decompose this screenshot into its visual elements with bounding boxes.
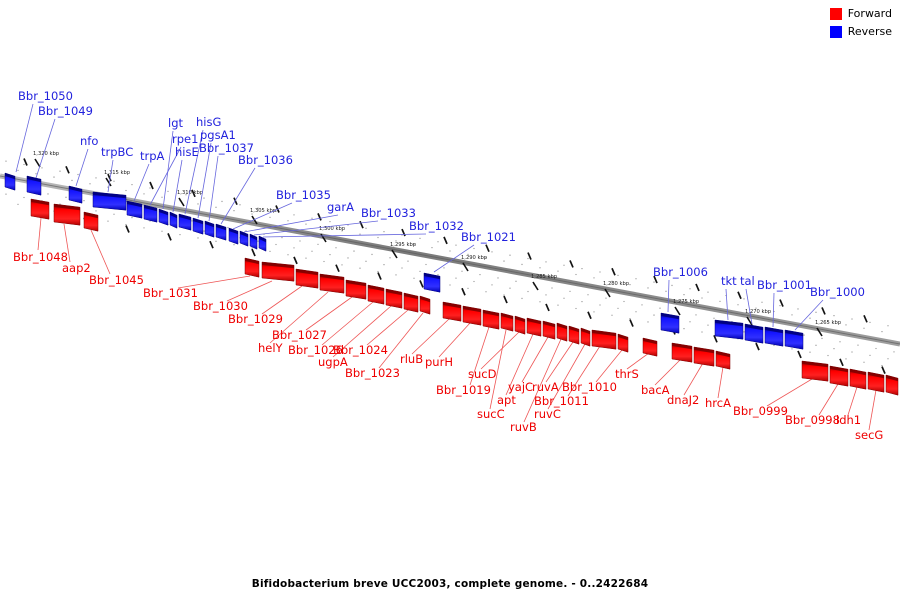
minor-tick-dot xyxy=(395,274,396,275)
legend-item-reverse: Reverse xyxy=(830,24,892,39)
minor-tick-dot xyxy=(299,240,300,241)
minor-tick-dot xyxy=(365,261,366,262)
minor-tick-dot xyxy=(17,170,18,171)
minor-tick-dot xyxy=(887,325,888,326)
gene-Bbr_1027[interactable] xyxy=(346,280,366,299)
gene-nfo[interactable] xyxy=(69,186,82,203)
leader-Bbr_1048 xyxy=(38,218,41,250)
gene-trpBC[interactable] xyxy=(93,192,126,210)
legend-label-reverse: Reverse xyxy=(848,26,892,38)
minor-tick-dot xyxy=(221,201,222,202)
genome-map-viewer: 1,320 kbp1,315 kbp1,310 kbp1,305 kbp1,30… xyxy=(0,0,900,600)
gene-tkt[interactable] xyxy=(715,320,743,339)
minor-tick-dot xyxy=(5,193,6,194)
minor-tick-dot xyxy=(821,338,822,339)
major-tick-mark xyxy=(420,280,423,287)
gene-apt[interactable] xyxy=(527,318,541,336)
gene-ugpA[interactable] xyxy=(386,289,402,308)
gene-label-Bbr_1032: Bbr_1032 xyxy=(409,219,464,233)
minor-tick-dot xyxy=(557,305,558,306)
minor-tick-dot xyxy=(527,258,528,259)
legend-item-forward: Forward xyxy=(830,6,892,21)
minor-tick-dot xyxy=(539,301,540,302)
gene-label-helY: helY xyxy=(258,341,284,355)
minor-tick-dot xyxy=(611,315,612,316)
minor-tick-dot xyxy=(761,302,762,303)
gene-label-sucC: sucC xyxy=(477,407,505,421)
gene-aap2[interactable] xyxy=(54,204,80,225)
minor-tick-dot xyxy=(827,355,828,356)
gene-Bbr_1035[interactable] xyxy=(229,228,238,244)
minor-tick-dot xyxy=(179,234,180,235)
minor-tick-dot xyxy=(161,231,162,232)
gene-Bbr_0999[interactable] xyxy=(802,361,828,381)
minor-tick-dot xyxy=(239,204,240,205)
gene-ruvB[interactable] xyxy=(557,323,567,341)
gene-hisG[interactable] xyxy=(179,214,191,230)
minor-tick-dot xyxy=(293,214,294,215)
legend-swatch-forward xyxy=(830,8,842,20)
gene-labels: Bbr_1050Bbr_1049nfotrpBCtrpArpe1lgthisEh… xyxy=(13,89,883,442)
major-tick-mark xyxy=(126,226,129,233)
minor-tick-dot xyxy=(347,257,348,258)
minor-tick-dot xyxy=(851,351,852,352)
gene-label-ugpA: ugpA xyxy=(318,355,348,369)
gene-label-Bbr_1035: Bbr_1035 xyxy=(276,188,331,202)
minor-tick-dot xyxy=(719,301,720,302)
minor-tick-dot xyxy=(833,315,834,316)
gene-label-ldh1: ldh1 xyxy=(836,413,861,427)
gene-ruvC[interactable] xyxy=(581,328,590,346)
major-tick-mark xyxy=(252,249,255,256)
genome-map-canvas[interactable]: 1,320 kbp1,315 kbp1,310 kbp1,305 kbp1,30… xyxy=(0,0,900,600)
minor-tick-dot xyxy=(71,180,72,181)
leader-Bbr_1030 xyxy=(227,281,272,301)
gene-rluB[interactable] xyxy=(443,302,461,321)
minor-tick-dot xyxy=(845,358,846,359)
minor-tick-dot xyxy=(557,271,558,272)
gene-label-Bbr_1021: Bbr_1021 xyxy=(461,230,516,244)
minor-tick-dot xyxy=(131,184,132,185)
minor-tick-dot xyxy=(329,221,330,222)
gene-label-Bbr_1010: Bbr_1010 xyxy=(562,380,617,394)
minor-tick-dot xyxy=(695,314,696,315)
gene-Bbr_1021[interactable] xyxy=(424,273,440,292)
minor-tick-dot xyxy=(545,261,546,262)
minor-tick-dot xyxy=(689,321,690,322)
minor-tick-dot xyxy=(473,248,474,249)
leader-Bbr_1029 xyxy=(262,286,302,314)
minor-tick-dot xyxy=(335,247,336,248)
leader-sucD xyxy=(481,332,519,369)
minor-tick-dot xyxy=(587,294,588,295)
leader-trpA xyxy=(134,164,149,201)
leader-Bbr_1006 xyxy=(668,280,669,312)
minor-tick-dot xyxy=(449,250,450,251)
gene-label-garA: garA xyxy=(327,200,354,214)
minor-tick-dot xyxy=(809,318,810,319)
minor-tick-dot xyxy=(281,237,282,238)
gene-helY[interactable] xyxy=(320,274,344,293)
major-tick-mark xyxy=(336,265,339,272)
minor-tick-dot xyxy=(527,291,528,292)
leader-Bbr_1045 xyxy=(91,230,110,274)
minor-tick-dot xyxy=(641,304,642,305)
minor-tick-dot xyxy=(509,255,510,256)
leader-Bbr_0998 xyxy=(819,384,838,415)
minor-tick-dot xyxy=(269,251,270,252)
gene-label-Bbr_1011: Bbr_1011 xyxy=(534,394,589,408)
major-tick-mark xyxy=(486,245,489,252)
minor-tick-dot xyxy=(329,254,330,255)
minor-tick-dot xyxy=(305,257,306,258)
minor-tick-dot xyxy=(83,200,84,201)
minor-tick-dot xyxy=(797,308,798,309)
leader-ruvA xyxy=(546,342,573,382)
tick-label: 1,315 kbp xyxy=(104,170,131,176)
gene-label-Bbr_1033: Bbr_1033 xyxy=(361,206,416,220)
gene-label-Bbr_1000: Bbr_1000 xyxy=(810,285,865,299)
gene-Bbr_1019[interactable] xyxy=(483,310,499,329)
minor-tick-dot xyxy=(113,214,114,215)
minor-tick-dot xyxy=(377,237,378,238)
minor-tick-dot xyxy=(515,281,516,282)
minor-tick-dot xyxy=(125,190,126,191)
minor-tick-dot xyxy=(287,254,288,255)
minor-tick-dot xyxy=(791,348,792,349)
minor-tick-dot xyxy=(617,275,618,276)
gene-Bbr_1010[interactable] xyxy=(618,334,628,352)
minor-tick-dot xyxy=(629,284,630,285)
minor-tick-dot xyxy=(593,311,594,312)
gene-Bbr_1036[interactable] xyxy=(216,224,226,240)
major-tick-mark xyxy=(294,257,297,264)
minor-tick-dot xyxy=(437,274,438,275)
gene-trpA[interactable] xyxy=(127,201,142,218)
major-tick-mark xyxy=(840,359,843,366)
gene-label-tkt: tkt xyxy=(721,274,737,288)
major-tick-mark xyxy=(318,213,321,220)
gene-label-pgsA1: pgsA1 xyxy=(200,128,236,142)
minor-tick-dot xyxy=(629,318,630,319)
gene-Bbr_1029[interactable] xyxy=(296,269,318,288)
major-tick-mark xyxy=(210,241,213,248)
tick-label: 1,285 kbp xyxy=(531,274,558,280)
minor-tick-dot xyxy=(311,251,312,252)
minor-tick-dot xyxy=(881,331,882,332)
minor-tick-dot xyxy=(635,278,636,279)
minor-tick-dot xyxy=(653,281,654,282)
gene-ldh1[interactable] xyxy=(850,369,866,389)
minor-tick-dot xyxy=(575,274,576,275)
minor-tick-dot xyxy=(839,341,840,342)
gene-Bbr_1000[interactable] xyxy=(785,330,803,349)
legend-swatch-reverse xyxy=(830,26,842,38)
minor-tick-dot xyxy=(233,210,234,211)
minor-tick-dot xyxy=(149,187,150,188)
minor-tick-dot xyxy=(743,298,744,299)
minor-tick-dot xyxy=(383,264,384,265)
major-tick-mark xyxy=(444,237,447,244)
minor-tick-dot xyxy=(563,298,564,299)
tick-label: 1,270 kbp xyxy=(745,309,772,315)
minor-tick-dot xyxy=(659,308,660,309)
minor-tick-dot xyxy=(707,325,708,326)
minor-tick-dot xyxy=(257,241,258,242)
tick-mark xyxy=(533,282,538,290)
minor-tick-dot xyxy=(581,268,582,269)
gene-Bbr_1026[interactable] xyxy=(368,285,384,304)
gene-pgsA1[interactable] xyxy=(193,218,203,234)
tick-label: 1,310 kbp xyxy=(177,190,204,196)
gene-bacA[interactable] xyxy=(672,343,692,362)
minor-tick-dot xyxy=(809,352,810,353)
gene-rpe1[interactable] xyxy=(144,205,157,222)
tick-label: 1,305 kbp xyxy=(250,208,277,214)
gene-label-thrS: thrS xyxy=(615,367,639,381)
minor-tick-dot xyxy=(287,220,288,221)
minor-tick-dot xyxy=(467,288,468,289)
gene-Bbr_1037[interactable] xyxy=(205,221,214,237)
minor-tick-dot xyxy=(317,244,318,245)
minor-tick-dot xyxy=(305,223,306,224)
gene-hisE[interactable] xyxy=(170,212,177,228)
gene-lgt[interactable] xyxy=(159,209,168,225)
leader-Bbr_1037 xyxy=(209,156,218,221)
minor-tick-dot xyxy=(407,261,408,262)
gene-label-yajC: yajC xyxy=(508,380,533,394)
leader-tkt xyxy=(726,289,728,320)
minor-tick-dot xyxy=(503,260,504,261)
minor-tick-dot xyxy=(713,318,714,319)
major-tick-mark xyxy=(822,307,825,314)
minor-tick-dot xyxy=(203,197,204,198)
minor-tick-dot xyxy=(863,328,864,329)
major-tick-mark xyxy=(360,221,363,228)
minor-tick-dot xyxy=(707,292,708,293)
minor-tick-dot xyxy=(563,265,564,266)
gene-label-Bbr_1036: Bbr_1036 xyxy=(238,153,293,167)
gene-label-Bbr_1048: Bbr_1048 xyxy=(13,250,68,264)
minor-tick-dot xyxy=(593,277,594,278)
minor-tick-dot xyxy=(419,238,420,239)
minor-tick-dot xyxy=(197,203,198,204)
gene-Bbr_1048[interactable] xyxy=(31,199,49,219)
minor-tick-dot xyxy=(875,348,876,349)
leader-yajC xyxy=(522,337,548,382)
leader-hrcA xyxy=(718,367,723,398)
gene-label-ruvB: ruvB xyxy=(510,420,537,434)
minor-tick-dot xyxy=(251,247,252,248)
minor-tick-dot xyxy=(425,264,426,265)
minor-tick-dot xyxy=(59,171,60,172)
minor-tick-dot xyxy=(275,244,276,245)
minor-tick-dot xyxy=(815,312,816,313)
minor-tick-dot xyxy=(869,322,870,323)
minor-tick-dot xyxy=(107,221,108,222)
gene-sucD[interactable] xyxy=(515,316,525,334)
gene-Bbr_1049[interactable] xyxy=(27,176,41,195)
minor-tick-dot xyxy=(431,247,432,248)
gene-label-purH: purH xyxy=(425,355,453,369)
minor-tick-dot xyxy=(389,257,390,258)
gene-Bbr_1030[interactable] xyxy=(262,262,294,281)
major-tick-mark xyxy=(798,351,801,358)
minor-tick-dot xyxy=(419,271,420,272)
major-tick-mark xyxy=(504,296,507,303)
gene-purH[interactable] xyxy=(463,306,481,325)
minor-tick-dot xyxy=(743,331,744,332)
tick-label: 1,275 kbp xyxy=(673,299,700,305)
gene-label-ruvA: ruvA xyxy=(532,380,559,394)
gene-Bbr_1032[interactable] xyxy=(259,236,266,251)
tick-mark xyxy=(35,159,40,167)
gene-thrS[interactable] xyxy=(643,338,657,356)
leader-purH xyxy=(439,323,470,357)
figure-caption: Bifidobacterium breve UCC2003, complete … xyxy=(0,578,900,590)
gene-sucC[interactable] xyxy=(501,313,513,331)
gene-label-Bbr_1050: Bbr_1050 xyxy=(18,89,73,103)
minor-tick-dot xyxy=(437,241,438,242)
gene-label-Bbr_1027: Bbr_1027 xyxy=(272,328,327,342)
minor-tick-dot xyxy=(455,244,456,245)
minor-tick-dot xyxy=(461,271,462,272)
minor-tick-dot xyxy=(341,264,342,265)
minor-tick-dot xyxy=(881,365,882,366)
minor-tick-dot xyxy=(311,218,312,219)
minor-tick-dot xyxy=(845,324,846,325)
minor-tick-dot xyxy=(605,297,606,298)
gene-Bbr_1045[interactable] xyxy=(84,212,98,231)
minor-tick-dot xyxy=(215,207,216,208)
tick-mark xyxy=(675,307,680,315)
minor-tick-dot xyxy=(323,261,324,262)
tick-label: 1,280 kbp xyxy=(603,281,630,287)
legend: Forward Reverse xyxy=(830,6,892,42)
minor-tick-dot xyxy=(359,234,360,235)
major-tick-mark xyxy=(588,312,591,319)
minor-tick-dot xyxy=(143,193,144,194)
minor-tick-dot xyxy=(509,288,510,289)
minor-tick-dot xyxy=(413,278,414,279)
minor-tick-dot xyxy=(191,220,192,221)
minor-tick-dot xyxy=(95,210,96,211)
gene-label-Bbr_0999: Bbr_0999 xyxy=(733,404,788,418)
minor-tick-dot xyxy=(89,183,90,184)
minor-tick-dot xyxy=(47,193,48,194)
minor-tick-dot xyxy=(485,291,486,292)
minor-tick-dot xyxy=(377,271,378,272)
tick-label: 1,265 kbp xyxy=(815,320,842,326)
gene-label-Bbr_1030: Bbr_1030 xyxy=(193,299,248,313)
minor-tick-dot xyxy=(65,197,66,198)
minor-tick-dot xyxy=(503,294,504,295)
gene-Bbr_1033[interactable] xyxy=(250,234,257,249)
gene-gene-end[interactable] xyxy=(886,375,898,395)
gene-yajC[interactable] xyxy=(543,321,555,339)
gene-label-Bbr_1006: Bbr_1006 xyxy=(653,265,708,279)
major-tick-mark xyxy=(738,292,741,299)
leader-hisE xyxy=(173,160,182,212)
gene-label-dnaJ2: dnaJ2 xyxy=(667,393,699,407)
gene-garA[interactable] xyxy=(240,231,248,246)
minor-tick-dot xyxy=(449,284,450,285)
gene-hrcA[interactable] xyxy=(716,351,730,369)
minor-tick-dot xyxy=(455,277,456,278)
minor-tick-dot xyxy=(161,197,162,198)
minor-tick-dot xyxy=(887,358,888,359)
minor-tick-dot xyxy=(617,308,618,309)
major-tick-mark xyxy=(696,284,699,291)
minor-tick-dot xyxy=(857,345,858,346)
minor-tick-dot xyxy=(815,345,816,346)
gene-secG[interactable] xyxy=(868,372,884,392)
minor-tick-dot xyxy=(401,267,402,268)
gene-Bbr_1011[interactable] xyxy=(592,330,616,349)
gene-Bbr_1023[interactable] xyxy=(420,296,430,314)
minor-tick-dot xyxy=(779,305,780,306)
gene-label-rpe1: rpe1 xyxy=(172,132,198,146)
minor-tick-dot xyxy=(569,291,570,292)
gene-Bbr_1001[interactable] xyxy=(765,327,783,346)
gene-tal[interactable] xyxy=(745,324,763,343)
gene-dnaJ2[interactable] xyxy=(694,347,714,366)
minor-tick-dot xyxy=(35,173,36,174)
minor-tick-dot xyxy=(521,264,522,265)
gene-label-lgt: lgt xyxy=(168,116,183,130)
gene-label-Bbr_1045: Bbr_1045 xyxy=(89,273,144,287)
minor-tick-dot xyxy=(95,177,96,178)
gene-label-tal: tal xyxy=(740,274,755,288)
gene-label-nfo: nfo xyxy=(80,134,98,148)
minor-tick-dot xyxy=(17,204,18,205)
gene-label-hrcA: hrcA xyxy=(705,396,731,410)
minor-tick-dot xyxy=(599,271,600,272)
gene-Bbr_1024[interactable] xyxy=(404,293,418,312)
minor-tick-dot xyxy=(233,244,234,245)
minor-tick-dot xyxy=(647,321,648,322)
minor-tick-dot xyxy=(491,251,492,252)
gene-label-Bbr_1029: Bbr_1029 xyxy=(228,312,283,326)
gene-label-Bbr_1024: Bbr_1024 xyxy=(333,343,388,357)
minor-tick-dot xyxy=(41,167,42,168)
minor-tick-dot xyxy=(125,224,126,225)
gene-ruvA[interactable] xyxy=(569,326,579,344)
minor-tick-dot xyxy=(539,267,540,268)
gene-Bbr_1050[interactable] xyxy=(5,173,15,190)
gene-Bbr_1031[interactable] xyxy=(245,258,259,277)
major-tick-mark xyxy=(546,304,549,311)
minor-tick-dot xyxy=(497,277,498,278)
minor-tick-dot xyxy=(869,355,870,356)
gene-label-apt: apt xyxy=(497,393,516,407)
minor-tick-dot xyxy=(803,334,804,335)
major-tick-mark xyxy=(630,320,633,327)
gene-label-trpBC: trpBC xyxy=(101,145,133,159)
gene-Bbr_1006[interactable] xyxy=(661,313,679,333)
minor-tick-dot xyxy=(473,281,474,282)
minor-tick-dot xyxy=(383,231,384,232)
minor-tick-dot xyxy=(893,351,894,352)
major-tick-mark xyxy=(882,367,885,374)
minor-tick-dot xyxy=(443,267,444,268)
minor-tick-dot xyxy=(197,237,198,238)
minor-tick-dot xyxy=(203,230,204,231)
gene-label-Bbr_1049: Bbr_1049 xyxy=(38,104,93,118)
gene-label-Bbr_1001: Bbr_1001 xyxy=(757,278,812,292)
minor-tick-dot xyxy=(635,311,636,312)
gene-Bbr_0998[interactable] xyxy=(830,366,848,386)
